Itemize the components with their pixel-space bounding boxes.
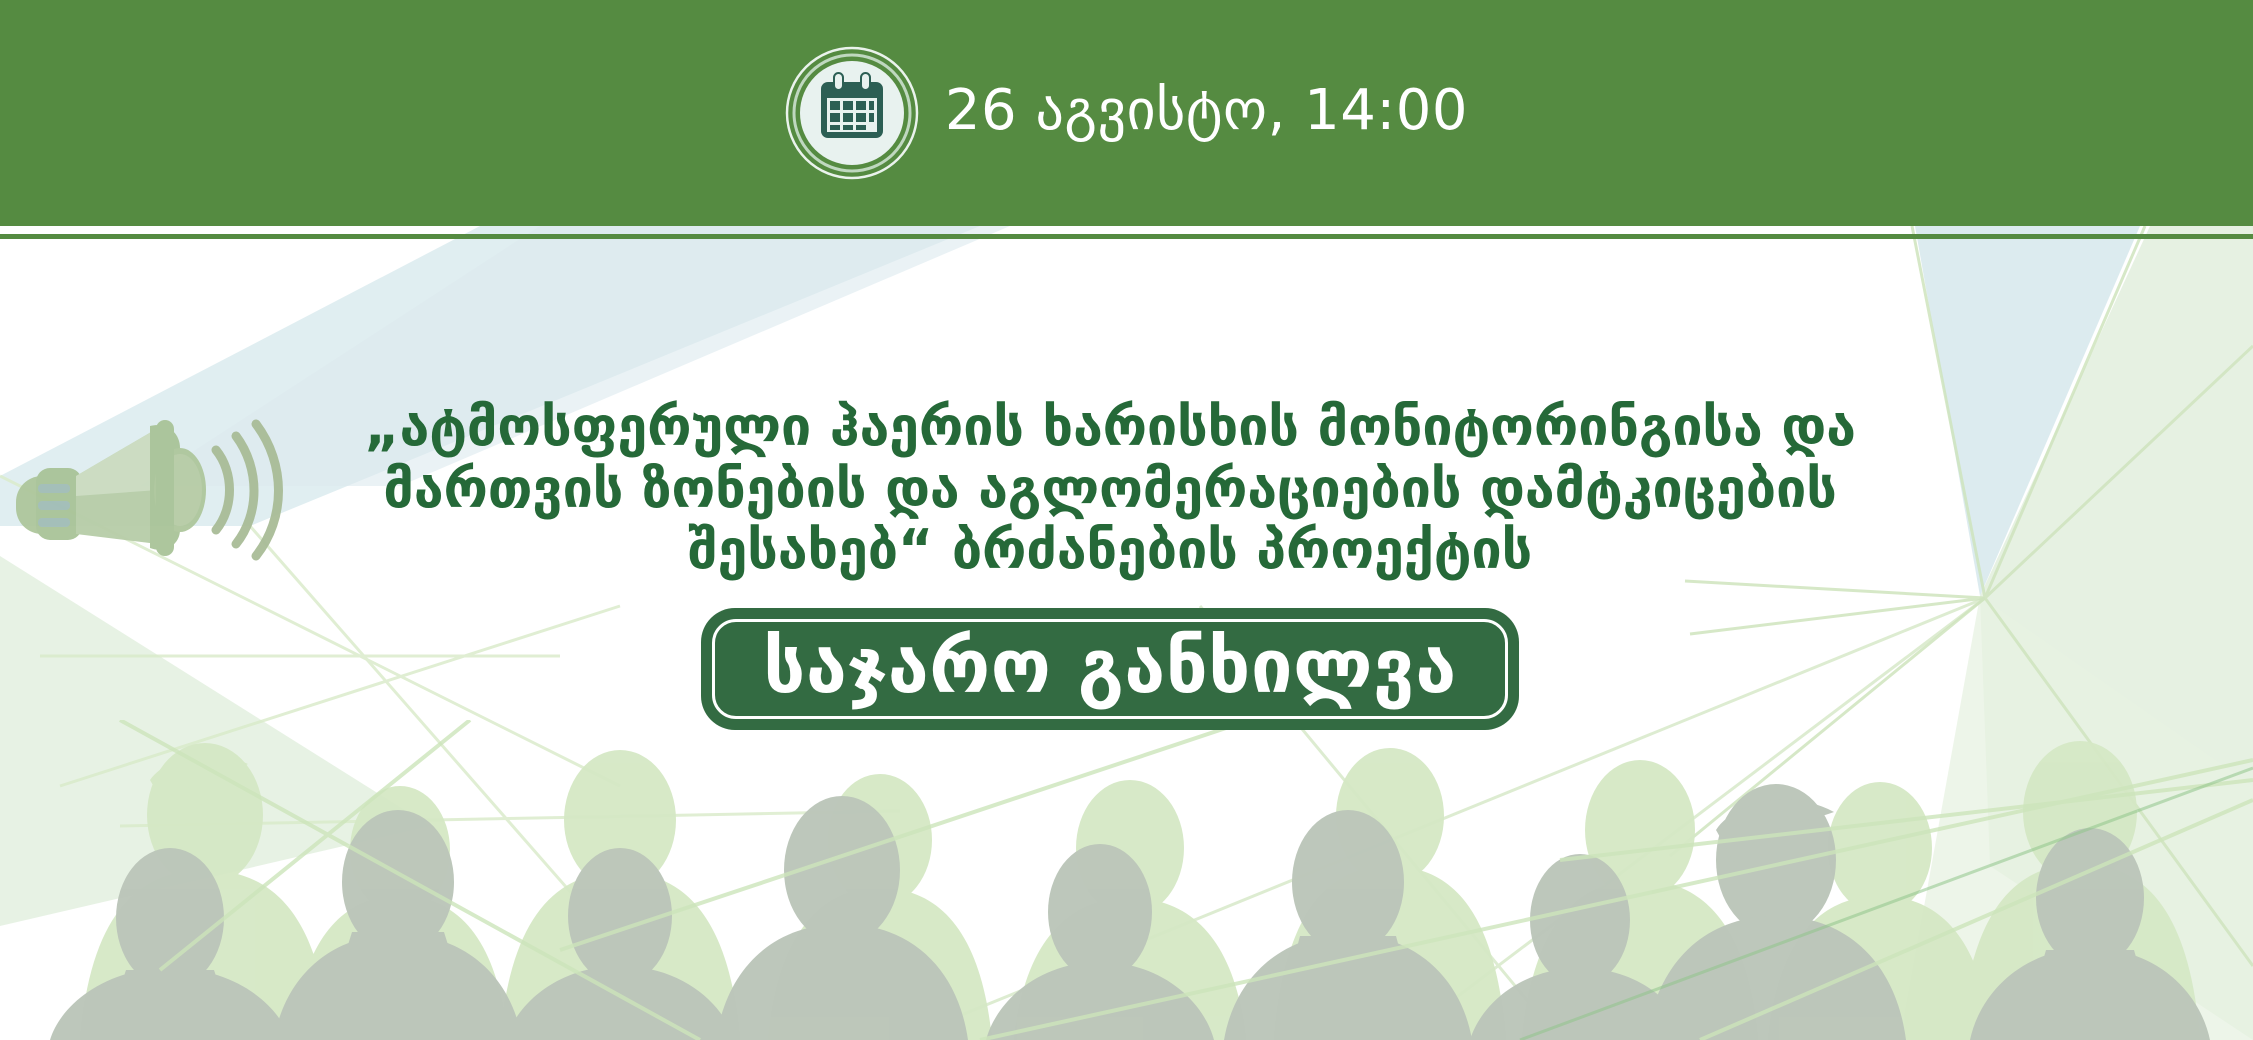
date-row: 26 აგვისტო, 14:00 [0,0,2253,226]
title-line-3: შესახებ“ ბრძანების პროექტის [300,519,1920,581]
page-title: „ატმოსფერული ჰაერის ხარისხის მონიტორინგი… [300,396,1920,581]
header-divider [0,234,2253,239]
badge-label: საჯარო განხილვა [763,630,1456,704]
title-line-1: „ატმოსფერული ჰაერის ხარისხის მონიტორინგი… [300,396,1920,458]
megaphone-icon [8,398,308,588]
event-announcement-banner: 26 აგვისტო, 14:00 [0,0,2253,1040]
public-discussion-badge[interactable]: საჯარო განხილვა [701,608,1518,730]
crowd-silhouettes [0,720,2253,1040]
header-bar: 26 აგვისტო, 14:00 [0,0,2253,226]
title-line-2: მართვის ზონების და აგლომერაციების დამტკი… [300,458,1920,520]
badge-container: საჯარო განხილვა [300,608,1920,730]
event-datetime: 26 აგვისტო, 14:00 [945,83,1468,143]
calendar-icon [785,46,919,180]
